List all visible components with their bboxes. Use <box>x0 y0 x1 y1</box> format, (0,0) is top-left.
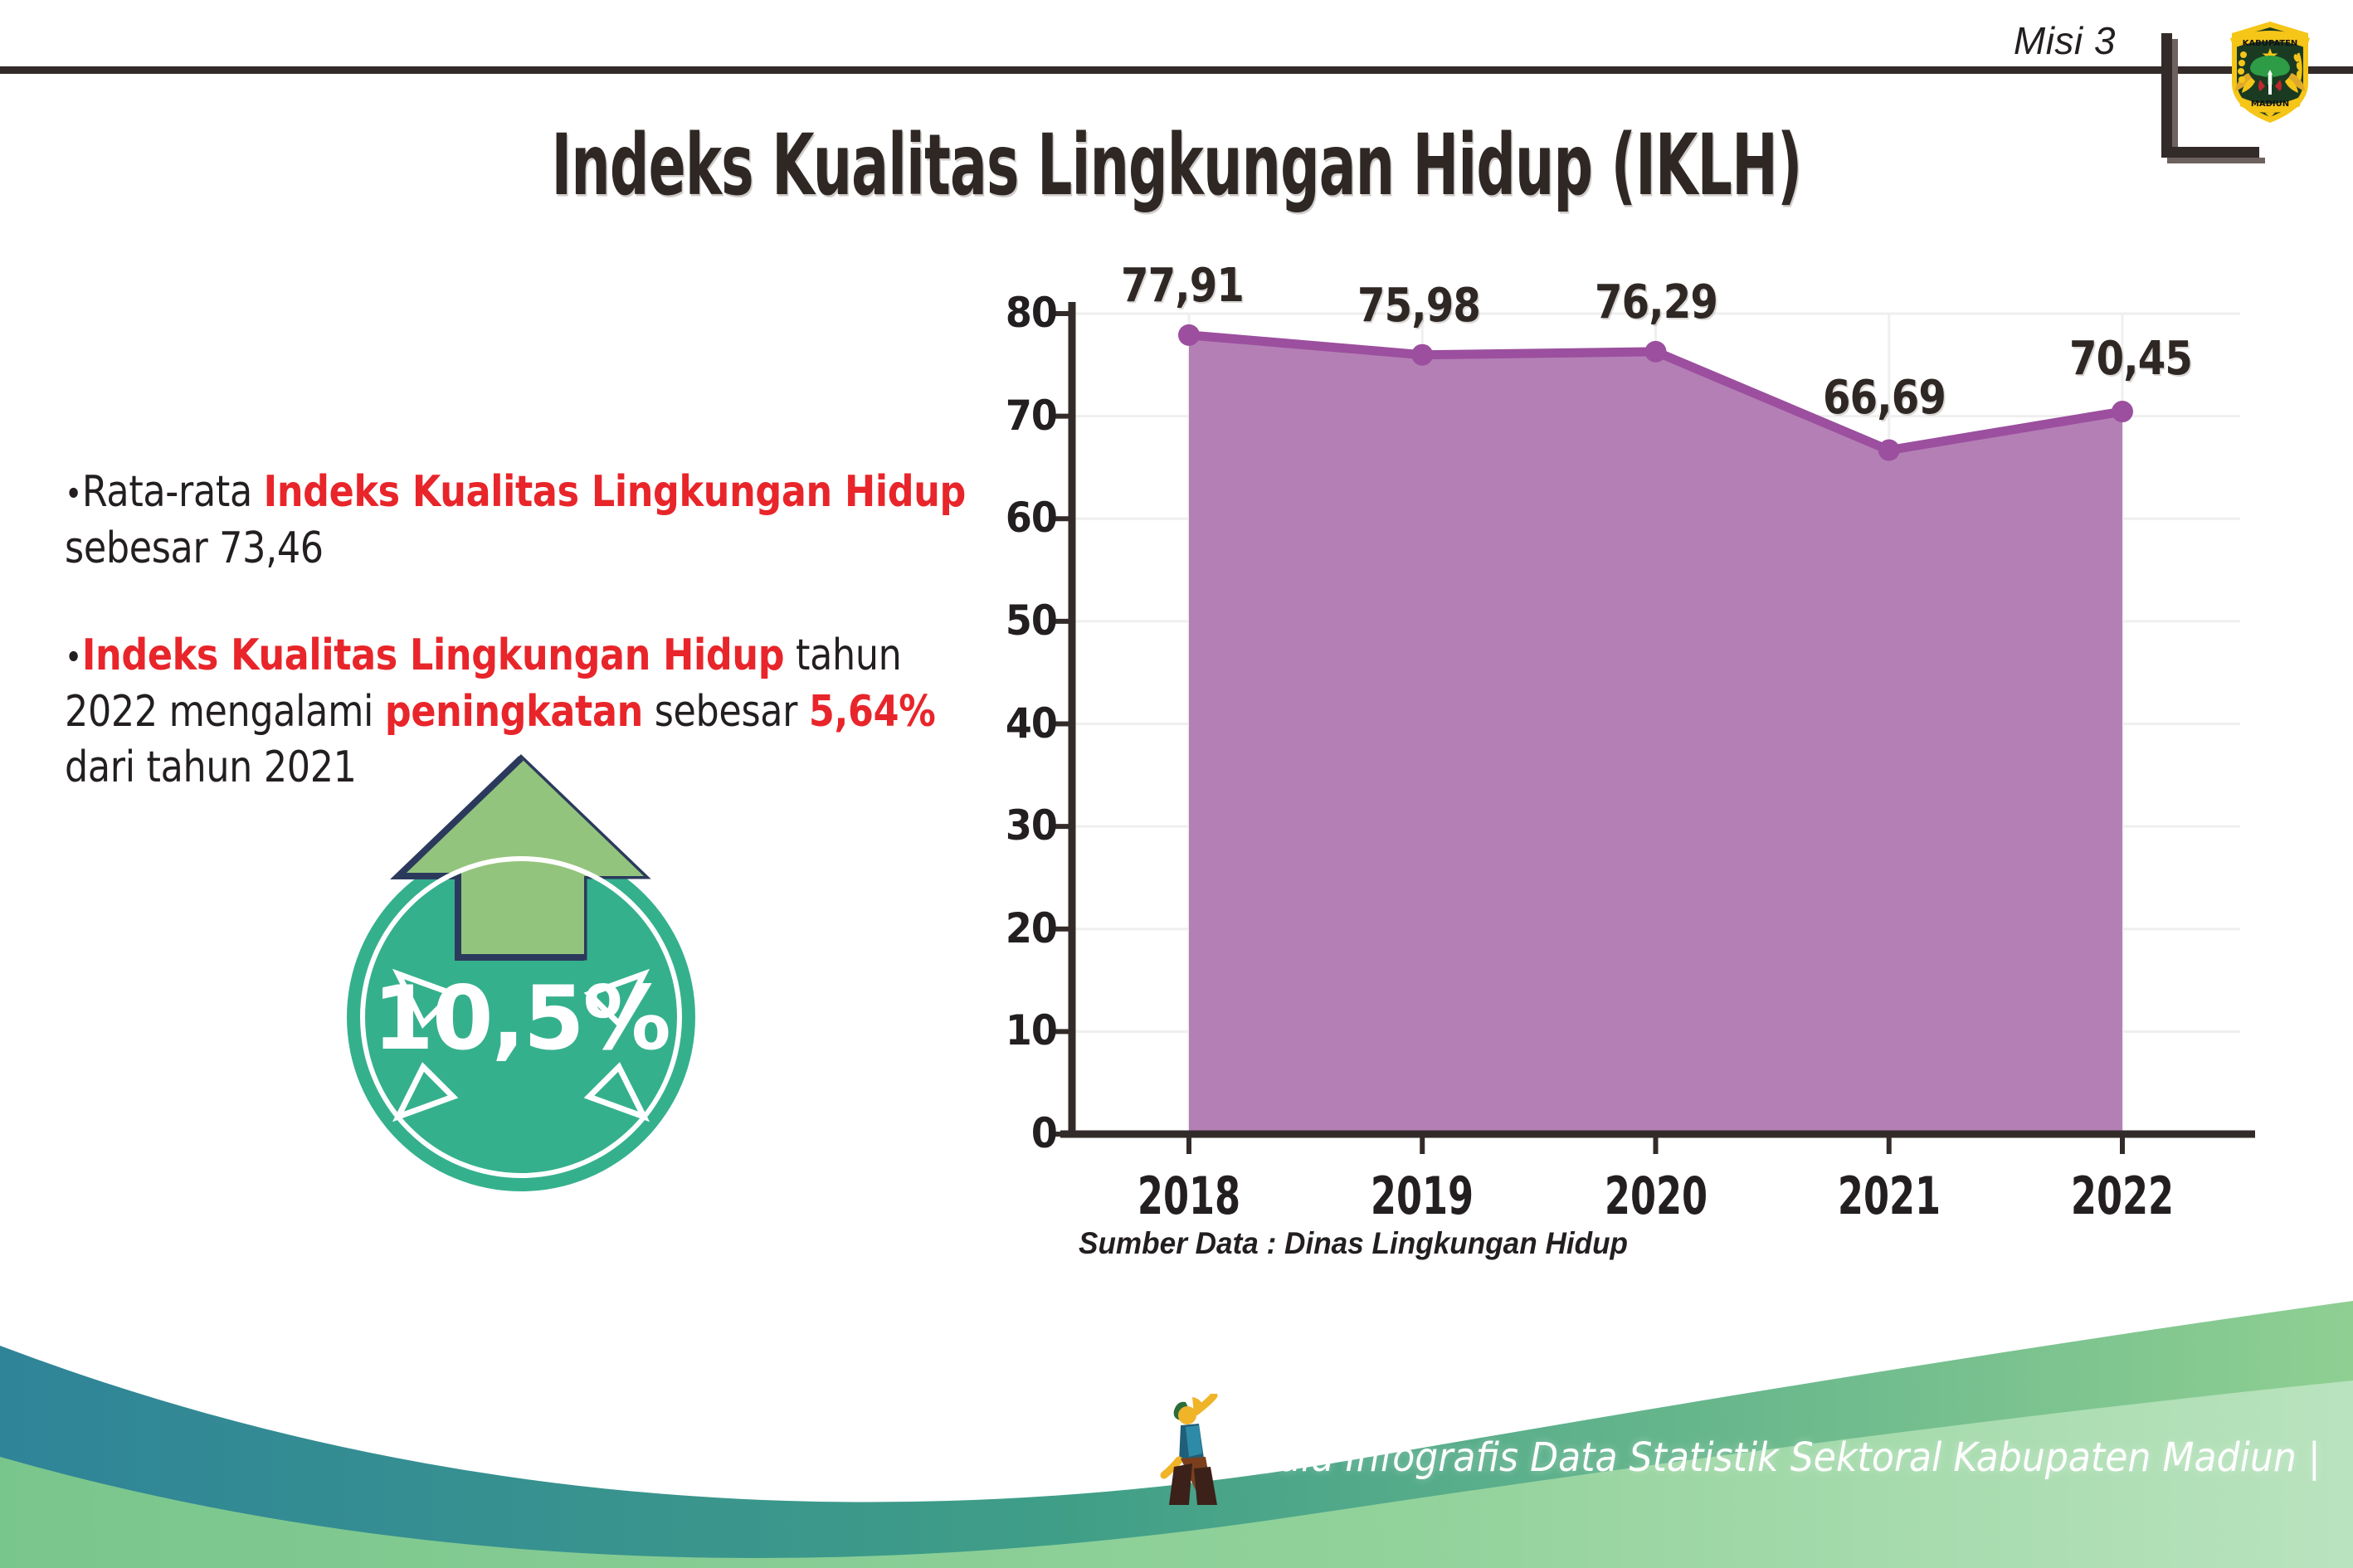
y-axis-tick-label: 40 <box>981 699 1057 747</box>
data-point-label: 75,98 <box>1326 279 1512 333</box>
kabupaten-madiun-emblem-icon: KABUPATEN MADIUN <box>2224 15 2316 127</box>
bullet-1-part3: dari tahun 2021 <box>65 743 357 792</box>
bullet-1-highlight2: peningkatan <box>385 687 643 737</box>
misi-label: Misi 3 <box>2014 18 2116 63</box>
page-footer: Media Infografis Data Statistik Sektoral… <box>0 1294 2353 1568</box>
bullet-item-average: •Rata-rata Indeks Kualitas Lingkungan Hi… <box>65 465 987 577</box>
x-axis-tick-label: 2022 <box>2044 1166 2200 1226</box>
bullet-marker: • <box>65 637 82 678</box>
chart-source-note: Sumber Data : Dinas Lingkungan Hidup <box>1079 1226 1628 1261</box>
badge-value: 10,5% <box>347 967 695 1069</box>
y-axis-tick-label: 30 <box>981 801 1057 850</box>
data-point-label: 76,29 <box>1563 275 1749 329</box>
x-axis-tick-label: 2021 <box>1811 1166 1966 1226</box>
iklh-area-chart: 01020304050607080 20182019202020212022 7… <box>979 299 2257 1178</box>
footer-text: Media Infografis Data Statistik Sektoral… <box>1224 1434 2321 1481</box>
x-axis-tick-label: 2018 <box>1111 1166 1266 1226</box>
y-axis-tick-label: 60 <box>981 494 1057 542</box>
bullet-marker: • <box>65 474 82 514</box>
bullet-1-highlight3: 5,64% <box>809 687 936 737</box>
bullet-0-highlight1: Indeks Kualitas Lingkungan Hidup <box>264 467 966 517</box>
data-point-label: 66,69 <box>1791 371 1977 425</box>
data-point-label: 77,91 <box>1089 259 1275 313</box>
summary-bullet-list: •Rata-rata Indeks Kualitas Lingkungan Hi… <box>65 465 986 796</box>
chart-area-fill <box>1189 335 2122 1134</box>
data-point-label: 70,45 <box>2038 332 2224 386</box>
bullet-0-part1: Rata-rata <box>82 467 264 517</box>
header-divider-rule <box>0 66 2353 74</box>
chart-canvas <box>979 299 2257 1178</box>
increase-badge: 10,5% <box>320 752 752 1191</box>
y-axis-tick-label: 80 <box>981 289 1057 337</box>
y-axis-tick-label: 70 <box>981 392 1057 440</box>
y-axis-tick-label: 0 <box>981 1109 1057 1157</box>
y-axis-tick-label: 50 <box>981 597 1057 645</box>
svg-text:KABUPATEN: KABUPATEN <box>2243 39 2298 48</box>
bullet-1-highlight1: Indeks Kualitas Lingkungan Hidup <box>82 631 784 680</box>
x-axis-tick-label: 2020 <box>1578 1166 1733 1226</box>
page-title: Indeks Kualitas Lingkungan Hidup (IKLH) <box>236 116 2118 214</box>
x-axis-tick-label: 2019 <box>1345 1166 1500 1226</box>
y-axis-tick-label: 20 <box>981 904 1057 952</box>
bullet-1-part2: sebesar <box>643 687 809 737</box>
bullet-0-part2: sebesar 73,46 <box>65 523 324 573</box>
svg-text:MADIUN: MADIUN <box>2251 100 2289 109</box>
y-axis-tick-label: 10 <box>981 1006 1057 1054</box>
